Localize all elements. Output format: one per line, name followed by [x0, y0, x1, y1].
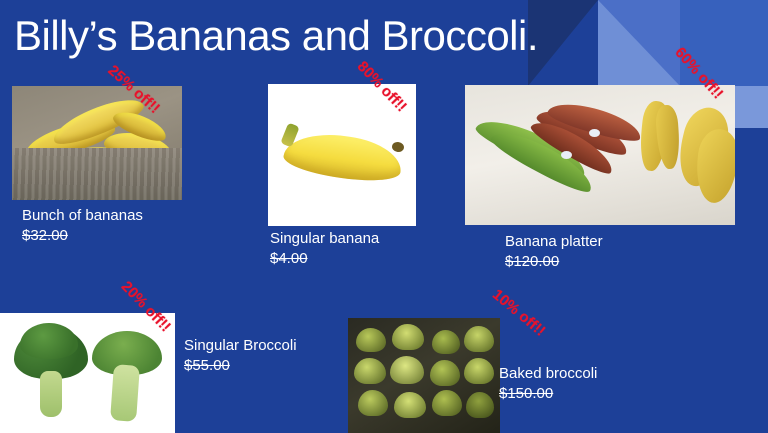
baked-broccoli-photo — [348, 318, 500, 433]
product-caption-bunch-of-bananas: Bunch of bananas $32.00 — [22, 206, 152, 246]
singular-broccoli-photo — [0, 313, 175, 433]
slide-canvas: Billy’s Bananas and Broccoli. — [0, 0, 768, 433]
decorative-dark-triangle — [528, 0, 598, 86]
product-caption-singular-broccoli: Singular Broccoli $55.00 — [184, 336, 344, 376]
banana-platter-photo — [465, 85, 735, 225]
product-price: $120.00 — [505, 252, 685, 272]
product-name: Singular banana — [270, 230, 379, 247]
product-name: Banana platter — [505, 233, 603, 250]
product-name: Baked broccoli — [499, 365, 597, 382]
product-price: $150.00 — [499, 384, 659, 404]
product-caption-baked-broccoli: Baked broccoli $150.00 — [499, 364, 659, 404]
product-price: $4.00 — [270, 249, 400, 269]
product-name: Bunch of bananas — [22, 207, 143, 224]
product-caption-singular-banana: Singular banana $4.00 — [270, 229, 400, 269]
product-name: Singular Broccoli — [184, 337, 297, 354]
decorative-diagonal-triangle — [598, 0, 680, 86]
product-price: $32.00 — [22, 226, 152, 246]
product-caption-banana-platter: Banana platter $120.00 — [505, 232, 685, 272]
product-price: $55.00 — [184, 356, 344, 376]
page-title: Billy’s Bananas and Broccoli. — [14, 12, 538, 60]
